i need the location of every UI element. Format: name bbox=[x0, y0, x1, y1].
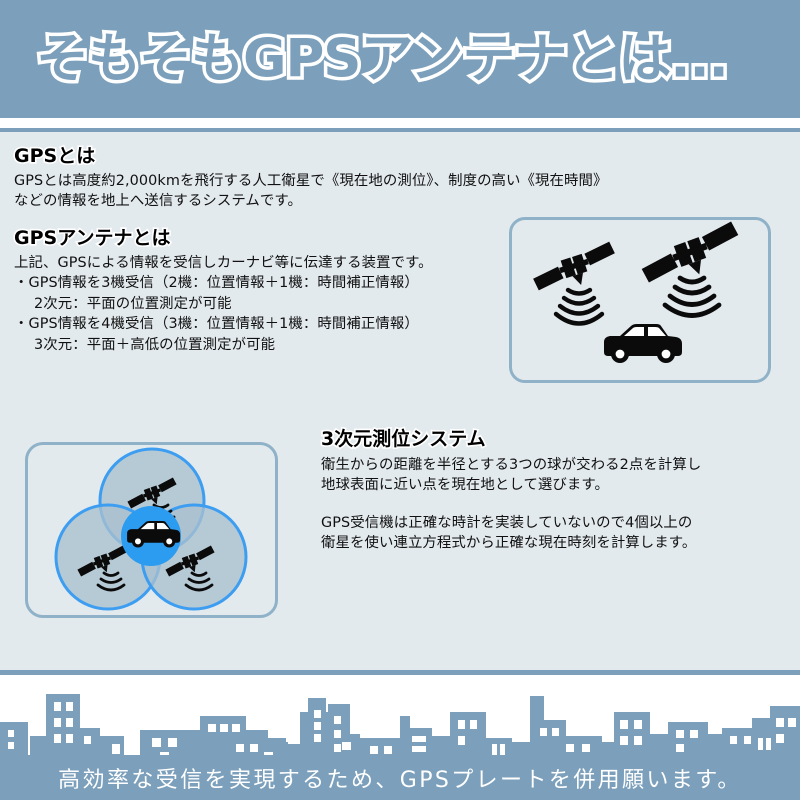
section-gps-definition: GPSとは GPSとは高度約2,000kmを飛行する人工衛星で《現在地の測位》、… bbox=[14, 146, 608, 212]
body-line: 2次元：平面の位置測定が可能 bbox=[14, 294, 433, 314]
satellite-car-svg bbox=[512, 220, 768, 380]
body-line: 衛星を使い連立方程式から正確な現在時刻を計算します。 bbox=[321, 533, 701, 553]
body-line: 衛生からの距離を半径とする3つの球が交わる2点を計算し bbox=[321, 455, 701, 475]
city-skyline bbox=[0, 682, 800, 762]
section-heading: 3次元測位システム bbox=[321, 429, 701, 450]
body-line: などの情報を地上へ送信するシステムです。 bbox=[14, 191, 608, 211]
signal-waves bbox=[556, 290, 602, 324]
satellite-car-illustration bbox=[509, 217, 771, 383]
body-line: ・GPS情報を3機受信（2機：位置情報＋1機：時間補正情報） bbox=[14, 273, 433, 293]
body-line: GPS受信機は正確な時計を実装していないので4個以上の bbox=[321, 513, 701, 533]
trilateration-illustration bbox=[25, 442, 278, 618]
trilateration-svg bbox=[28, 445, 275, 615]
body-line: GPSとは高度約2,000kmを飛行する人工衛星で《現在地の測位》、制度の高い《… bbox=[14, 171, 608, 191]
content-area: GPSとは GPSとは高度約2,000kmを飛行する人工衛星で《現在地の測位》、… bbox=[0, 132, 800, 670]
car-icon bbox=[604, 324, 682, 363]
signal-waves bbox=[665, 278, 719, 316]
body-line: 地球表面に近い点を現在地として選びます。 bbox=[321, 475, 701, 495]
page-title: そもそもGPSアンテナとは... bbox=[36, 33, 728, 86]
body-line: ・GPS情報を4機受信（3機：位置情報＋1機：時間補正情報） bbox=[14, 314, 433, 334]
footer-message: 高効率な受信を実現するため、GPSプレートを併用願います。 bbox=[0, 755, 800, 800]
footer-banner: 高効率な受信を実現するため、GPSプレートを併用願います。 bbox=[0, 675, 800, 800]
header-gap bbox=[0, 118, 800, 128]
body-line: 上記、GPSによる情報を受信しカーナビ等に伝達する装置です。 bbox=[14, 253, 433, 273]
section-heading: GPSアンテナとは bbox=[14, 228, 433, 249]
paragraph-spacer bbox=[321, 496, 701, 513]
section-3d-positioning-system: 3次元測位システム 衛生からの距離を半径とする3つの球が交わる2点を計算し 地球… bbox=[321, 429, 701, 554]
section-heading: GPSとは bbox=[14, 146, 608, 167]
infographic-page: そもそもGPSアンテナとは... GPSとは GPSとは高度約2,000kmを飛… bbox=[0, 0, 800, 800]
body-line: 3次元：平面＋高低の位置測定が可能 bbox=[14, 335, 433, 355]
satellite-icon bbox=[529, 241, 620, 298]
section-gps-antenna-definition: GPSアンテナとは 上記、GPSによる情報を受信しカーナビ等に伝達する装置です。… bbox=[14, 228, 433, 355]
header-banner: そもそもGPSアンテナとは... bbox=[0, 0, 800, 118]
